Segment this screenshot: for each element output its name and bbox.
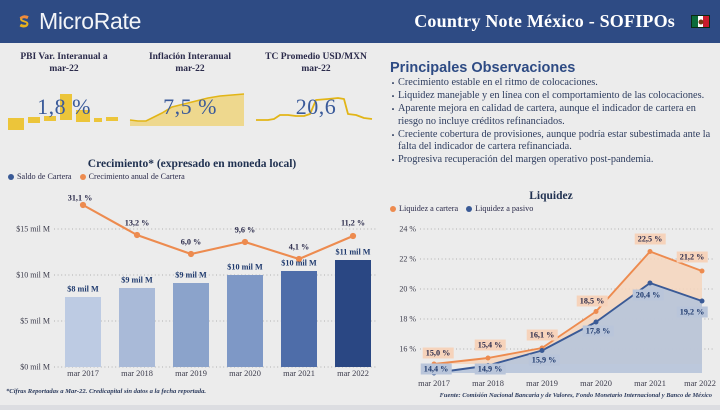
data-label: 9,6 % — [235, 226, 255, 235]
kpi-value: 1,8 % — [2, 94, 126, 120]
legend-swatch-icon — [8, 174, 14, 180]
legend-label: Liquidez a pasivo — [475, 204, 533, 213]
legend-label: Liquidez a cartera — [399, 204, 458, 213]
legend-item: Liquidez a cartera — [390, 204, 458, 213]
chart-plot-area: 24 % 22 % 20 % 18 % 16 % — [386, 215, 716, 377]
chart-title: Liquidez — [386, 190, 716, 202]
bar-label: $11 mil M — [335, 248, 370, 257]
x-tick-label: mar 2018 — [472, 379, 504, 388]
data-label: 14,9 % — [475, 364, 506, 375]
kpi-card-pbi: PBI Var. Interanual a mar-22 1,8 % — [2, 52, 126, 138]
kpi-sparkline-area: 7,5 % — [128, 80, 252, 138]
chart-title: Crecimiento* (expresado en moneda local) — [4, 158, 380, 170]
header-right-group: Country Note México - SOFIPOs — [414, 11, 710, 32]
observation-item: Aparente mejora en calidad de cartera, a… — [390, 103, 716, 128]
observation-item: Liquidez manejable y en línea con el com… — [390, 90, 716, 103]
footnote-source: Fuente: Comisión Nacional Bancaria y de … — [440, 392, 712, 399]
data-label: 21,2 % — [677, 252, 708, 263]
data-label: 16,1 % — [527, 330, 558, 341]
chart-legend: Liquidez a cartera Liquidez a pasivo — [386, 204, 716, 213]
x-tick-label: mar 2019 — [526, 379, 558, 388]
kpi-value: 20,6 — [254, 94, 378, 120]
kpi-value: 7,5 % — [128, 94, 252, 120]
kpi-card-inflacion: Inflación Interanual mar-22 7,5 % — [128, 52, 252, 138]
x-tick-label: mar 2022 — [337, 369, 369, 378]
page-title: Country Note México - SOFIPOs — [414, 11, 675, 32]
kpi-title: Inflación Interanual mar-22 — [128, 52, 252, 76]
data-label: 14,4 % — [421, 364, 452, 375]
header-bar: MicroRate Country Note México - SOFIPOs — [0, 0, 720, 43]
legend-label: Saldo de Cartera — [17, 172, 72, 181]
legend-swatch-icon — [390, 206, 396, 212]
chart-liquidez: Liquidez Liquidez a cartera Liquidez a p… — [386, 190, 716, 377]
x-tick-label: mar 2018 — [121, 369, 153, 378]
mexico-flag-icon — [691, 15, 710, 28]
kpi-card-tc: TC Promedio USD/MXN mar-22 20,6 — [254, 52, 378, 138]
observations-panel: Principales Observaciones Crecimiento es… — [390, 60, 716, 167]
legend-item: Crecimiento anual de Cartera — [80, 172, 185, 181]
x-tick-label: mar 2022 — [684, 379, 716, 388]
bar-label: $10 mil M — [227, 263, 262, 272]
observation-item: Progresiva recuperación del margen opera… — [390, 154, 716, 167]
x-tick-label: mar 2017 — [418, 379, 450, 388]
footnote-left: *Cifras Reportadas a Mar-22. Credicapita… — [6, 388, 206, 395]
data-label: 15,0 % — [423, 348, 454, 359]
observations-heading: Principales Observaciones — [390, 60, 716, 76]
data-label: 13,2 % — [125, 219, 150, 228]
x-tick-label: mar 2020 — [229, 369, 261, 378]
kpi-title: PBI Var. Interanual a mar-22 — [2, 52, 126, 76]
bar-label: $9 mil M — [175, 271, 206, 280]
observations-list: Crecimiento estable en el ritmo de coloc… — [390, 77, 716, 167]
observation-item: Crecimiento estable en el ritmo de coloc… — [390, 77, 716, 90]
legend-label: Crecimiento anual de Cartera — [89, 172, 185, 181]
chart-legend: Saldo de Cartera Crecimiento anual de Ca… — [4, 172, 380, 181]
x-tick-label: mar 2021 — [283, 369, 315, 378]
slide-root: MicroRate Country Note México - SOFIPOs … — [0, 0, 720, 410]
legend-item: Liquidez a pasivo — [466, 204, 533, 213]
x-tick-label: mar 2019 — [175, 369, 207, 378]
x-tick-label: mar 2020 — [580, 379, 612, 388]
kpi-sparkline-line: 20,6 — [254, 80, 378, 138]
brand-logo: MicroRate — [14, 8, 141, 35]
data-label: 19,2 % — [677, 307, 708, 318]
chart-crecimiento: Crecimiento* (expresado en moneda local)… — [4, 158, 380, 379]
data-label: 17,8 % — [583, 326, 614, 337]
kpi-title: TC Promedio USD/MXN mar-22 — [254, 52, 378, 76]
data-label: 31,1 % — [68, 194, 93, 203]
x-tick-label: mar 2017 — [67, 369, 99, 378]
legend-swatch-icon — [466, 206, 472, 212]
legend-swatch-icon — [80, 174, 86, 180]
data-label: 6,0 % — [181, 238, 201, 247]
bar-label: $10 mil M — [281, 259, 316, 268]
data-label: 15,9 % — [529, 355, 560, 366]
data-label: 11,2 % — [341, 219, 365, 228]
bottom-bar — [0, 405, 720, 410]
data-label: 15,4 % — [475, 340, 506, 351]
data-label: 20,4 % — [633, 290, 664, 301]
kpi-sparkline-bars: 1,8 % — [2, 80, 126, 138]
brand-name: MicroRate — [39, 8, 141, 35]
observation-item: Creciente cobertura de provisiones, aunq… — [390, 129, 716, 154]
legend-item: Saldo de Cartera — [8, 172, 72, 181]
data-label: 22,5 % — [635, 234, 666, 245]
data-label: 18,5 % — [577, 296, 608, 307]
kpi-strip: PBI Var. Interanual a mar-22 1,8 % Infla… — [0, 52, 382, 147]
x-tick-label: mar 2021 — [634, 379, 666, 388]
bar-label: $8 mil M — [67, 285, 98, 294]
bar-label: $9 mil M — [121, 276, 152, 285]
microrate-s-logo-icon — [14, 12, 34, 32]
chart-plot-area: $15 mil M $10 mil M $5 mil M $0 mil M — [4, 183, 380, 379]
data-label: 4,1 % — [289, 243, 309, 252]
